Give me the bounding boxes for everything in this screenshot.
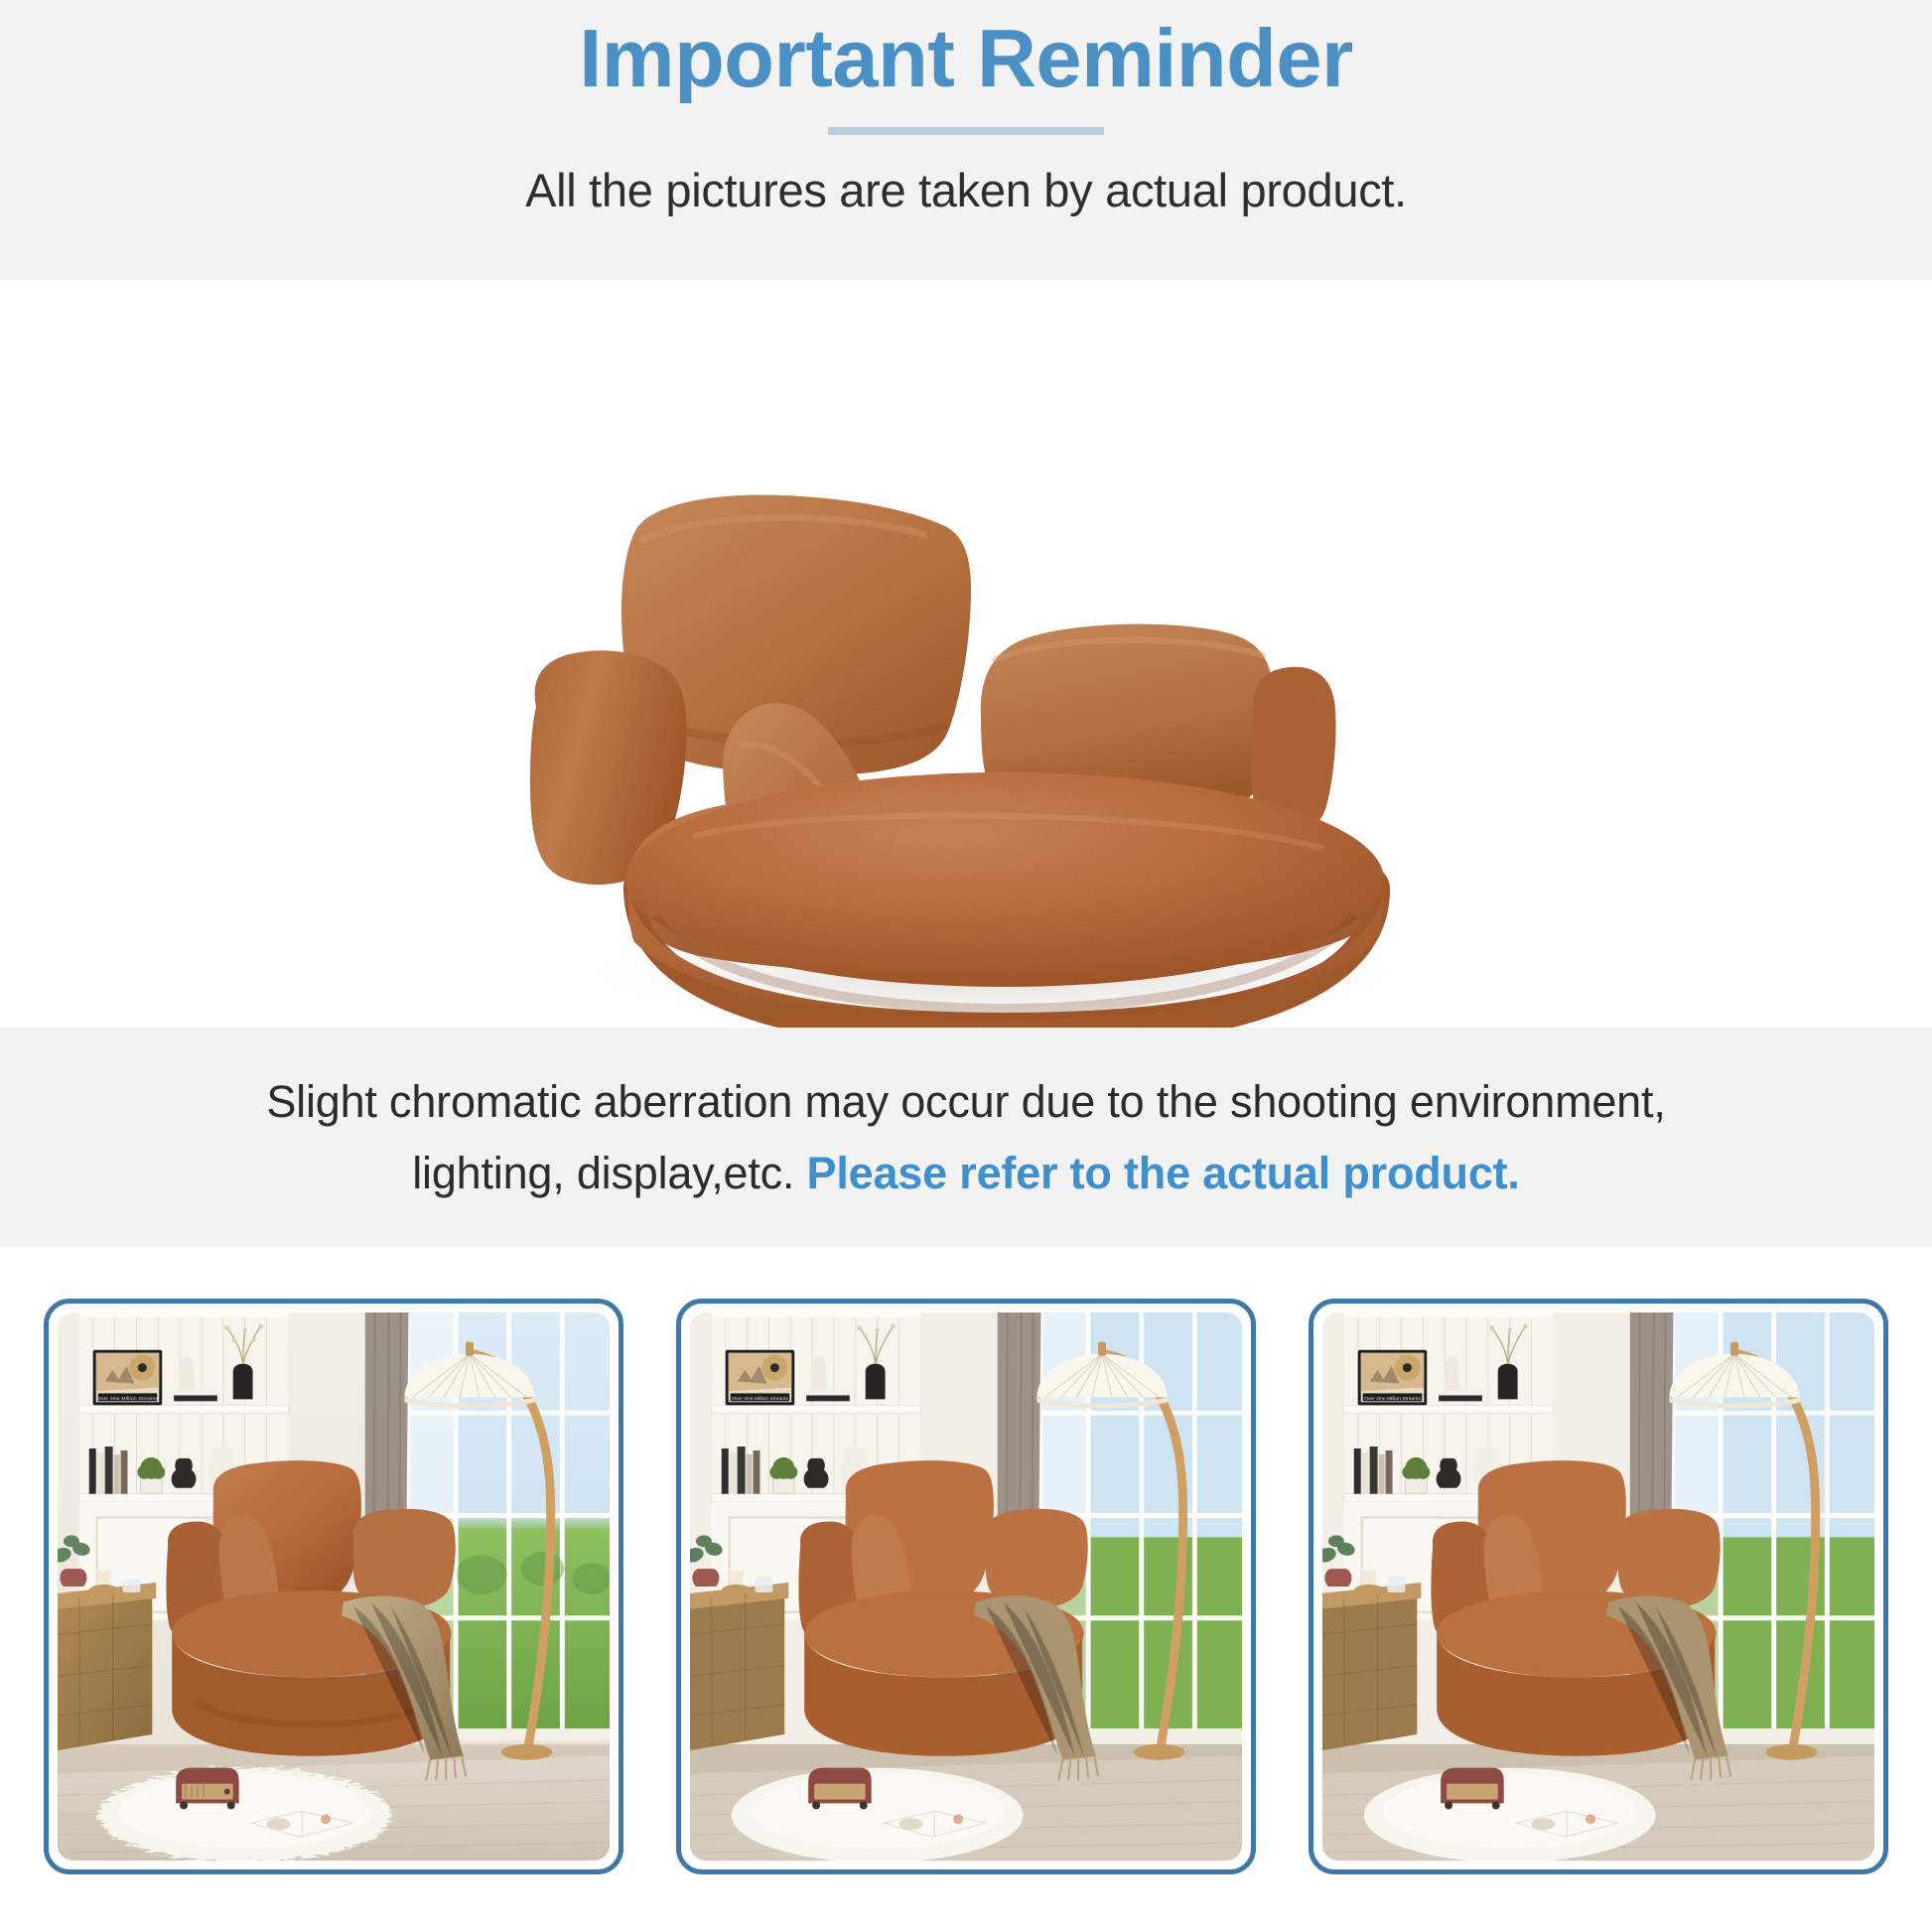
disclaimer-line-2: lighting, display,etc. Please refer to t… [412, 1141, 1520, 1205]
hero-product-image: Orange boucle round swivel barrel chair … [0, 280, 1932, 1028]
thumbnail-3[interactable]: Living room scene with orange boucle swi… [1309, 1299, 1888, 1874]
header-band: Important Reminder All the pictures are … [0, 0, 1932, 280]
title-divider [828, 127, 1104, 135]
page-title: Important Reminder [579, 14, 1353, 103]
svg-text:Over One Million Streams: Over One Million Streams [97, 1396, 159, 1402]
thumbnail-1[interactable]: Living room scene with orange boucle swi… [44, 1299, 623, 1874]
room-scene-2: Over One Million Streams [690, 1312, 1242, 1861]
disclaimer-highlight: Please refer to the actual product. [807, 1148, 1520, 1198]
thumbnail-row: Living room scene with orange boucle swi… [0, 1247, 1932, 1932]
thumbnail-3-inner: Over One Million Streams [1322, 1312, 1874, 1861]
framed-art-1: Over One Million Streams [93, 1350, 163, 1406]
thumbnail-1-inner: Over One Million Streams [58, 1312, 610, 1861]
disclaimer-line-2-prefix: lighting, display,etc. [412, 1148, 806, 1198]
room-scene-3: Over One Million Streams [1322, 1312, 1874, 1861]
sheepskin-rug-2 [732, 1768, 1024, 1861]
chair-illustration [0, 280, 1932, 1028]
framed-art-3: Over One Million Streams [1358, 1350, 1428, 1406]
disclaimer-band: Slight chromatic aberration may occur du… [0, 1028, 1932, 1247]
vintage-radio-3 [1441, 1768, 1504, 1810]
vintage-radio-1 [176, 1768, 239, 1810]
product-reminder-page: Important Reminder All the pictures are … [0, 0, 1932, 1932]
thumbnail-2-inner: Over One Million Streams [690, 1312, 1242, 1861]
thumbnail-2[interactable]: Living room scene with orange boucle swi… [676, 1299, 1256, 1874]
sheepskin-rug-3 [1364, 1768, 1656, 1861]
svg-text:Over One Million Streams: Over One Million Streams [1364, 1396, 1421, 1402]
room-scene-1: Over One Million Streams [58, 1312, 610, 1861]
vintage-radio-2 [808, 1768, 872, 1810]
svg-text:Over One Million Streams: Over One Million Streams [732, 1396, 788, 1402]
sheepskin-rug-1 [99, 1768, 391, 1861]
framed-art-2: Over One Million Streams [726, 1350, 795, 1406]
disclaimer-line-1: Slight chromatic aberration may occur du… [266, 1069, 1665, 1134]
page-subtitle: All the pictures are taken by actual pro… [525, 163, 1407, 217]
